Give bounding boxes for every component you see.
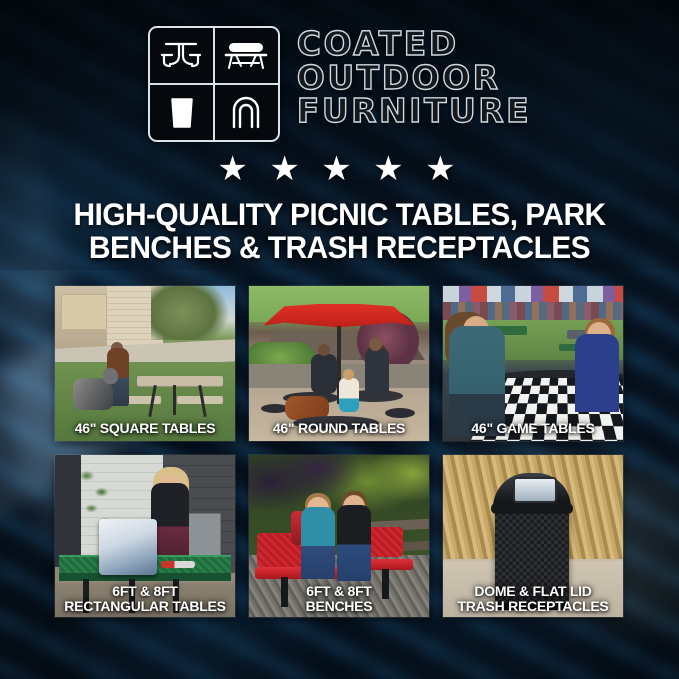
caption-line: 46" ROUND TABLES [252, 421, 426, 435]
brand-name: COATED OUTDOOR FURNITURE [297, 26, 531, 128]
caption-line: 46" GAME TABLES [446, 421, 620, 435]
product-tile-square-tables[interactable]: 46" SQUARE TABLES [55, 286, 235, 441]
product-caption-square-tables: 46" SQUARE TABLES [58, 421, 232, 435]
promo-banner: COATED OUTDOOR FURNITURE ★ ★ ★ ★ ★ HIGH-… [0, 0, 679, 679]
park-bench-icon [215, 28, 278, 83]
brand-lockup: COATED OUTDOOR FURNITURE [0, 26, 679, 142]
brand-name-line-1: COATED [297, 28, 531, 61]
banner-content: COATED OUTDOOR FURNITURE ★ ★ ★ ★ ★ HIGH-… [0, 0, 679, 679]
product-tile-round-tables[interactable]: 46" ROUND TABLES [249, 286, 429, 441]
caption-line: RECTANGULAR TABLES [58, 599, 232, 613]
picnic-table-icon [150, 28, 213, 83]
caption-line: 6FT & 8FT [58, 584, 232, 598]
page-title-line-1: HIGH-QUALITY PICNIC TABLES, PARK [73, 196, 605, 232]
star-rating: ★ ★ ★ ★ ★ [0, 152, 679, 186]
brand-name-line-2: OUTDOOR [297, 62, 531, 95]
product-caption-trash-receptacles: DOME & FLAT LID TRASH RECEPTACLES [446, 584, 620, 613]
product-grid: 46" SQUARE TABLES 46" ROUND TABLES [55, 286, 623, 617]
product-tile-trash-receptacles[interactable]: DOME & FLAT LID TRASH RECEPTACLES [443, 455, 623, 617]
page-title-line-2: BENCHES & TRASH RECEPTACLES [49, 231, 629, 264]
product-caption-round-tables: 46" ROUND TABLES [252, 421, 426, 435]
caption-line: 46" SQUARE TABLES [58, 421, 232, 435]
product-tile-benches[interactable]: 6FT & 8FT BENCHES [249, 455, 429, 617]
page-title: HIGH-QUALITY PICNIC TABLES, PARK BENCHES… [49, 198, 629, 264]
product-photo-game-tables [443, 286, 623, 441]
trash-receptacle-icon [150, 85, 213, 140]
bike-rack-icon [215, 85, 278, 140]
caption-line: DOME & FLAT LID [446, 584, 620, 598]
brand-name-line-3: FURNITURE [297, 95, 531, 128]
product-caption-game-tables: 46" GAME TABLES [446, 421, 620, 435]
caption-line: BENCHES [252, 599, 426, 613]
product-photo-round-tables [249, 286, 429, 441]
product-caption-benches: 6FT & 8FT BENCHES [252, 584, 426, 613]
caption-line: 6FT & 8FT [252, 584, 426, 598]
product-tile-rectangular-tables[interactable]: 6FT & 8FT RECTANGULAR TABLES [55, 455, 235, 617]
brand-logo-mark [148, 26, 280, 142]
caption-line: TRASH RECEPTACLES [446, 599, 620, 613]
product-caption-rectangular-tables: 6FT & 8FT RECTANGULAR TABLES [58, 584, 232, 613]
product-photo-square-tables [55, 286, 235, 441]
product-tile-game-tables[interactable]: 46" GAME TABLES [443, 286, 623, 441]
